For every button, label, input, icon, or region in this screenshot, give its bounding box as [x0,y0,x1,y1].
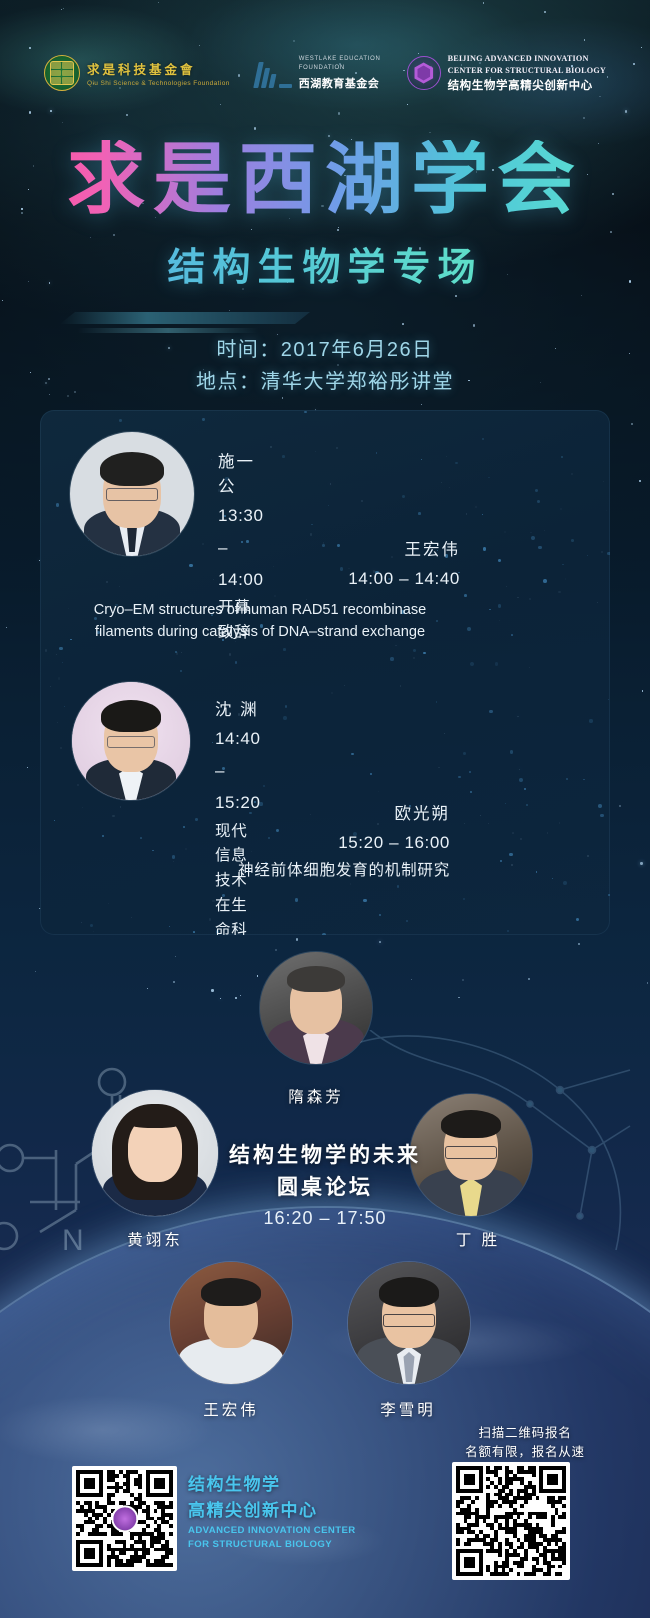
qiushi-seal-icon [44,55,80,91]
westlake-logo-en-1: WESTLAKE EDUCATION [299,55,381,64]
roundtable-time: 16:20 – 17:50 [0,1208,650,1229]
qr-right-matrix [456,1466,566,1576]
avatar [72,682,190,800]
baicsb-logo-en-1: BEIJING ADVANCED INNOVATION [448,53,606,64]
footer-org-en-2: FOR STRUCTURAL BIOLOGY [188,1538,356,1552]
westlake-logo-cn: 西湖教育基金会 [299,75,381,91]
logo-baic-structural-biology: BEIJING ADVANCED INNOVATION CENTER FOR S… [407,53,606,92]
roundtable-title-line-2: 圆桌论坛 [0,1172,650,1205]
poster-title-block: 求是西湖学会 结构生物学专场 [0,140,650,291]
session-speaker-name: 欧光朔 [60,802,450,827]
session-topic-line-1: Cryo–EM structures of human RAD51 recomb… [54,600,466,622]
avatar [348,1262,470,1384]
poster-root: 求是科技基金會 Qiu Shi Science & Technologies F… [0,0,650,1618]
footer-org-en-1: ADVANCED INNOVATION CENTER [188,1524,356,1538]
avatar [170,1262,292,1384]
logo-westlake-foundation: WESTLAKE EDUCATION FOUNDATION 西湖教育基金会 [256,55,381,90]
event-meta: 时间：2017年6月26日 地点：清华大学郑裕彤讲堂 [0,334,650,399]
event-time: 时间：2017年6月26日 [0,334,650,366]
sponsor-logo-bar: 求是科技基金會 Qiu Shi Science & Technologies F… [0,44,650,102]
session-time: 15:20 – 16:00 [60,827,450,859]
panelist-name-lixueming: 李雪明 [358,1398,458,1420]
footer-org-name-en: ADVANCED INNOVATION CENTER FOR STRUCTURA… [188,1524,356,1552]
footer-org-cn-1: 结构生物学 [188,1472,318,1498]
page-title: 求是西湖学会 [0,140,650,222]
panelist-name-huangyidong: 黄翊东 [105,1228,205,1250]
westlake-logo-en-2: FOUNDATION [299,64,381,73]
title-decoration-bar [60,312,310,324]
qiushi-logo-cn: 求是科技基金會 [87,59,230,78]
title-decoration-bar-2 [78,328,258,333]
baicsb-logo-cn: 结构生物学高精尖创新中心 [448,77,606,93]
qr-code-registration[interactable] [452,1462,570,1580]
session-time: 14:00 – 14:40 [60,563,460,595]
panelist-name-wanghongwei: 王宏伟 [181,1398,281,1420]
schedule-card: 施一公 13:30 – 14:00 开幕致辞 王宏伟 14:00 – 14:40… [40,410,610,935]
session-topic-line-2: filaments during catalysis of DNA–strand… [54,622,466,644]
westlake-mark-icon [256,58,292,88]
scan-instruction-line-1: 扫描二维码报名 [440,1424,610,1443]
panelist-name-dingsheng: 丁 胜 [428,1228,528,1250]
footer-org-cn-2: 高精尖创新中心 [188,1498,318,1524]
qr-code-official-account[interactable] [72,1466,177,1571]
footer-org-name: 结构生物学 高精尖创新中心 [188,1472,318,1525]
qiushi-logo-en: Qiu Shi Science & Technologies Foundatio… [87,80,230,87]
baicsb-hex-icon [407,56,441,90]
session-speaker-name: 沈 渊 [215,698,261,723]
page-subtitle: 结构生物学专场 [0,236,650,291]
session-topic: 神经前体细胞发育的机制研究 [60,859,450,884]
session-speaker-name: 王宏伟 [60,538,460,563]
scan-instruction: 扫描二维码报名 名额有限，报名从速 [440,1424,610,1463]
event-place: 地点：清华大学郑裕彤讲堂 [0,366,650,398]
panelist-name-suisenfang: 隋森芳 [266,1085,366,1107]
scan-instruction-line-2: 名额有限，报名从速 [440,1443,610,1462]
roundtable-title-line-1: 结构生物学的未来 [0,1140,650,1173]
baicsb-logo-en-2: CENTER FOR STRUCTURAL BIOLOGY [448,65,606,76]
session-speaker-name: 施一公 [218,450,264,500]
logo-qiushi-foundation: 求是科技基金會 Qiu Shi Science & Technologies F… [44,55,230,91]
avatar [260,952,372,1064]
